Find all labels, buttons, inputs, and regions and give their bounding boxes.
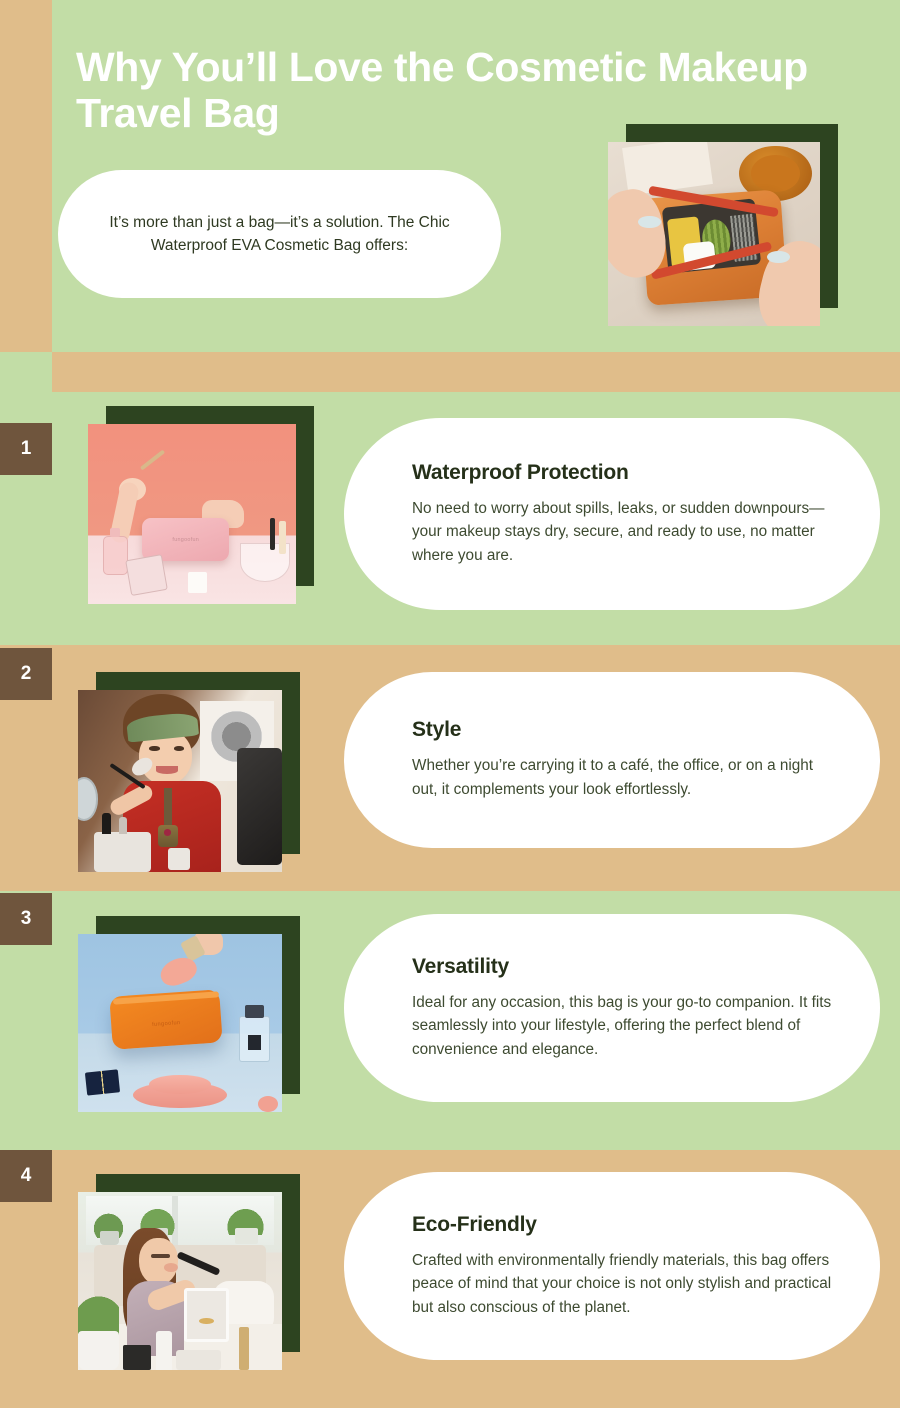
camera-shape <box>237 748 282 864</box>
section-4-body: Crafted with environmentally friendly ma… <box>412 1249 834 1320</box>
section-3-body: Ideal for any occasion, this bag is your… <box>412 991 834 1062</box>
section-3-image-frame: fungoofun <box>78 916 282 1094</box>
section-3-title: Versatility <box>412 955 834 979</box>
section-1-card: Waterproof Protection No need to worry a… <box>344 418 880 610</box>
header-left-tan-strip <box>0 0 52 352</box>
section-2-image-frame <box>78 672 282 854</box>
section-1-title: Waterproof Protection <box>412 461 834 485</box>
hero-photo <box>608 142 820 326</box>
section-number-badge-4: 4 <box>0 1150 52 1202</box>
section-4-photo <box>78 1192 282 1370</box>
page-title: Why You’ll Love the Cosmetic Makeup Trav… <box>76 44 836 137</box>
divider-tan-bar <box>52 352 900 392</box>
section-number-badge-3: 3 <box>0 893 52 945</box>
section-1-body: No need to worry about spills, leaks, or… <box>412 497 834 568</box>
divider-left-green <box>0 352 52 392</box>
section-1-image-frame: fungoofun <box>88 406 296 586</box>
section-2-body: Whether you’re carrying it to a café, th… <box>412 754 834 801</box>
section-2-title: Style <box>412 718 834 742</box>
section-1-photo: fungoofun <box>88 424 296 604</box>
infographic-page: Why You’ll Love the Cosmetic Makeup Trav… <box>0 0 900 1408</box>
section-2-photo <box>78 690 282 872</box>
hero-image-frame <box>608 124 820 308</box>
vanity-mirror-shape <box>184 1288 229 1341</box>
section-4-image-frame <box>78 1174 282 1352</box>
section-3-photo: fungoofun <box>78 934 282 1112</box>
lipstick-shape <box>85 1069 120 1095</box>
perfume-bottle-shape <box>239 1016 270 1062</box>
bag-logo-text: fungoofun <box>172 537 199 543</box>
bag-logo-text: fungoofun <box>152 1020 181 1028</box>
lead-bubble: It’s more than just a bag—it’s a solutio… <box>58 170 501 298</box>
section-3-card: Versatility Ideal for any occasion, this… <box>344 914 880 1102</box>
section-4-title: Eco-Friendly <box>412 1213 834 1237</box>
section-4-card: Eco-Friendly Crafted with environmentall… <box>344 1172 880 1360</box>
lead-text: It’s more than just a bag—it’s a solutio… <box>104 211 455 258</box>
section-number-badge-1: 1 <box>0 423 52 475</box>
section-number-badge-2: 2 <box>0 648 52 700</box>
section-2-card: Style Whether you’re carrying it to a ca… <box>344 672 880 848</box>
